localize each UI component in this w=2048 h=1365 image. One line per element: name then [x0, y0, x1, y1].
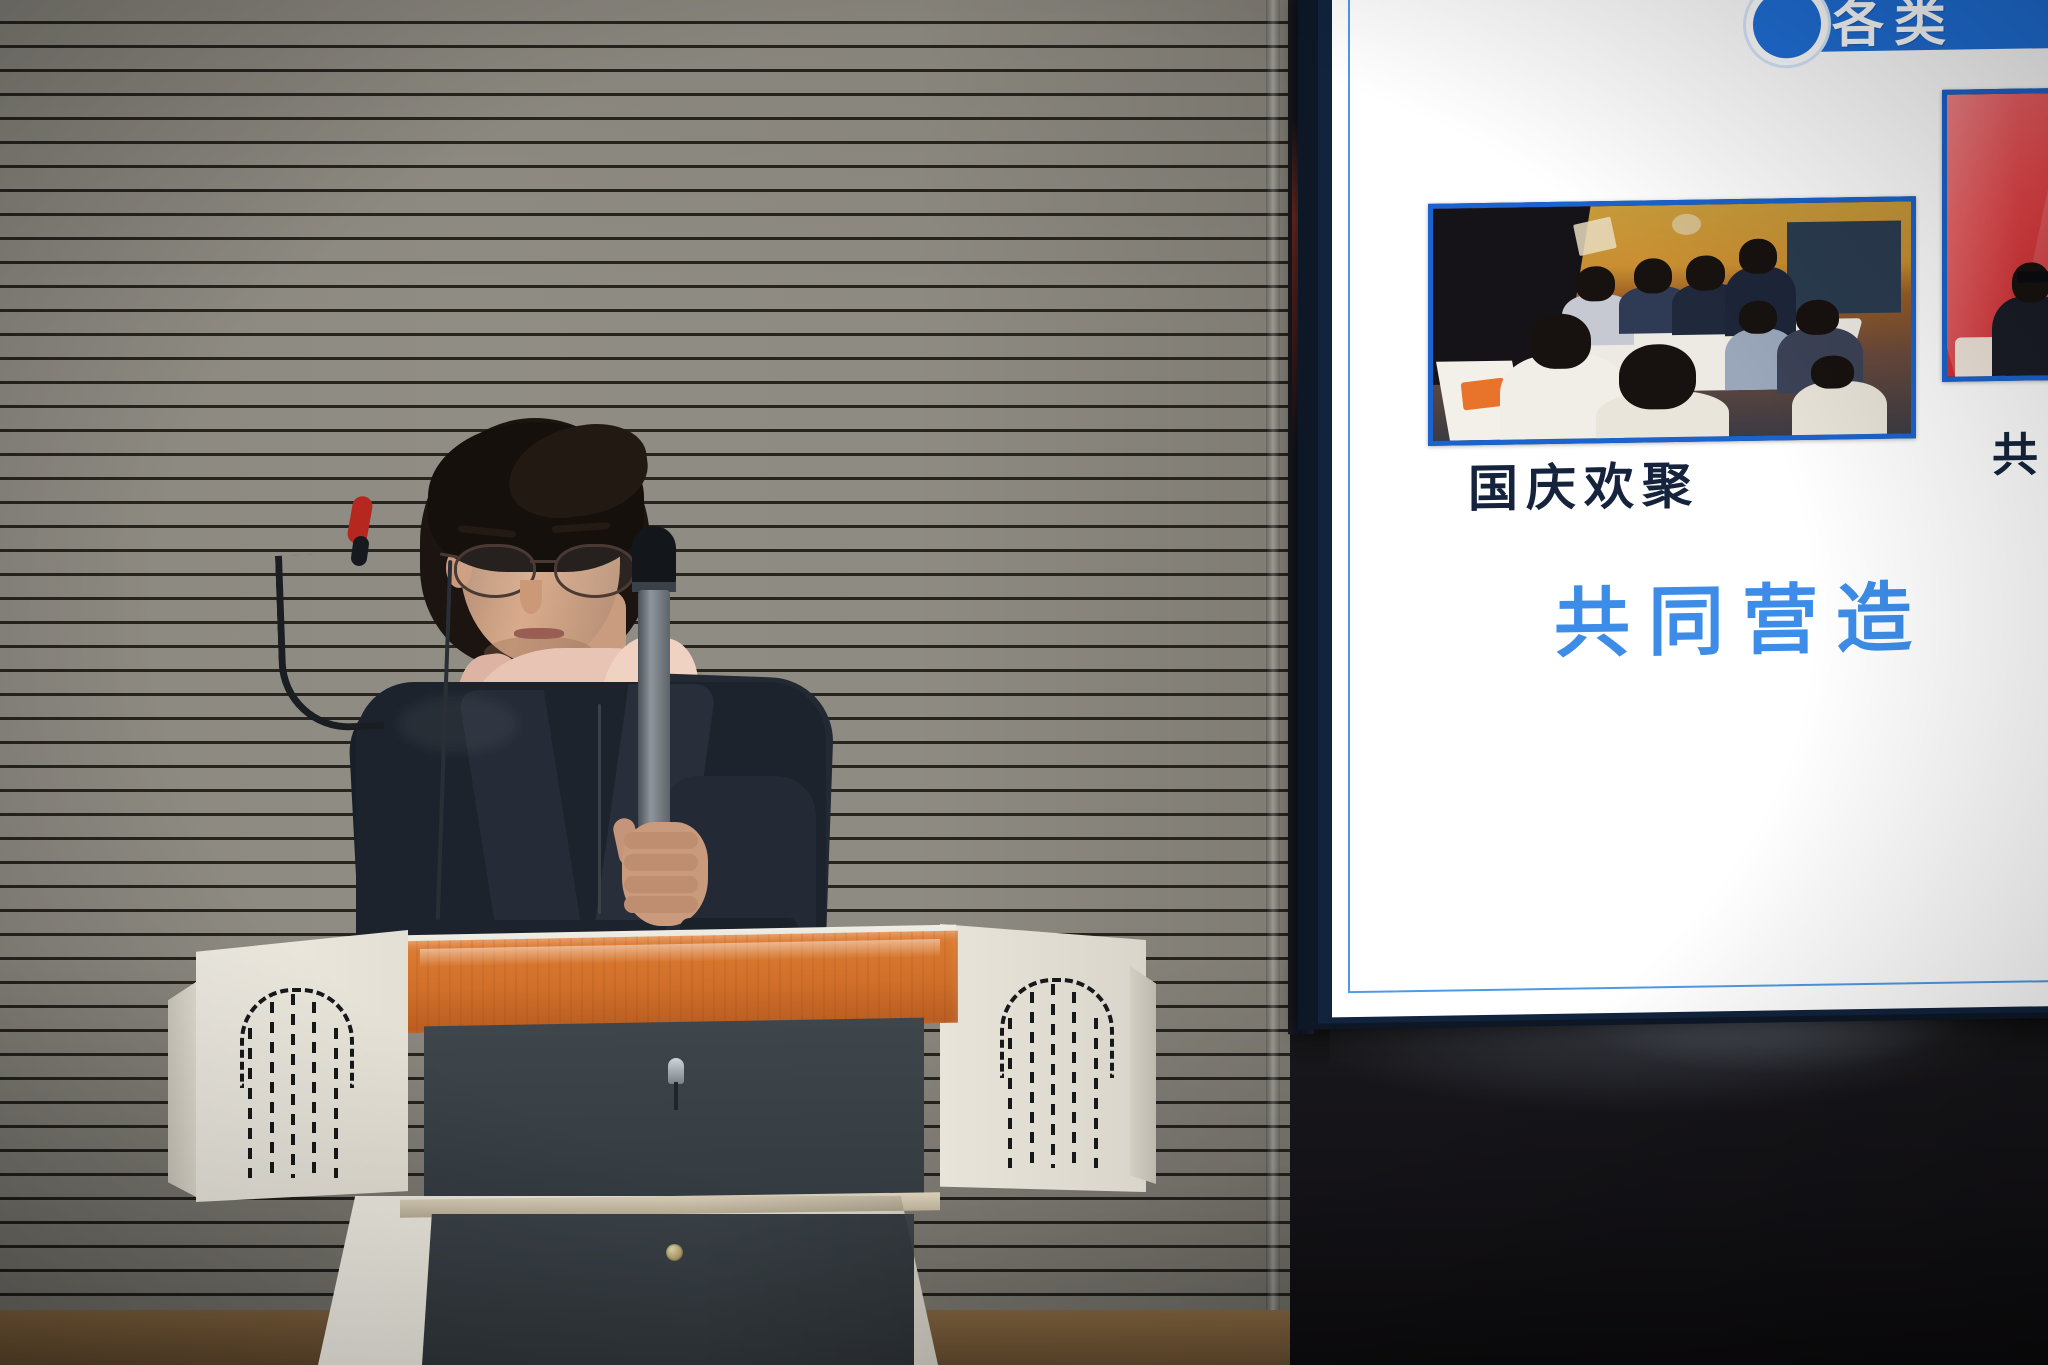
shoulder-highlight	[398, 696, 518, 752]
lens-right	[554, 544, 636, 598]
finger	[624, 854, 698, 871]
nose	[520, 580, 542, 614]
finger	[624, 876, 698, 893]
microphone-body	[638, 590, 670, 850]
podium-right-side-face	[1130, 966, 1156, 1184]
podium-pedestal-shading	[318, 1196, 938, 1365]
glasses-bridge	[530, 560, 556, 563]
speaker-grille-icon	[240, 988, 346, 1178]
handheld-microphone-icon[interactable]	[632, 526, 676, 588]
speaker-grille-icon	[1000, 978, 1106, 1168]
cabinet-latch-icon[interactable]	[668, 1058, 684, 1084]
cabinet-latch-stem	[674, 1082, 678, 1110]
finger	[624, 832, 698, 849]
eyeglasses-icon	[454, 544, 634, 596]
screenshot-scene: 各类	[0, 0, 2048, 1365]
microphone-cable-secondary	[598, 704, 601, 914]
finger	[624, 896, 698, 913]
